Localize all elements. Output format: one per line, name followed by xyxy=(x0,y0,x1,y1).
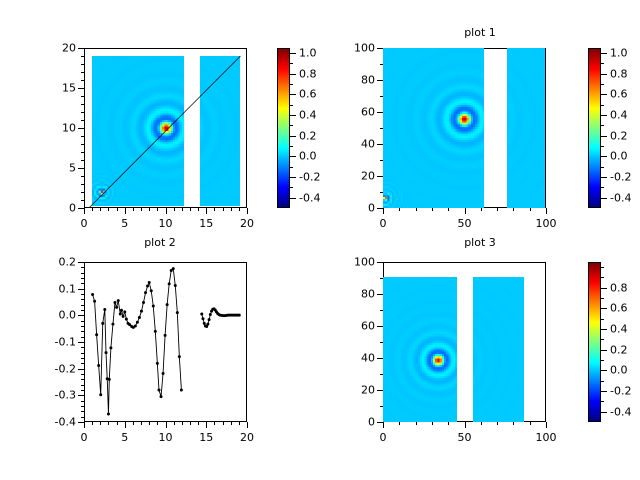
panel-top-left-xtick xyxy=(166,208,167,214)
panel-top-right-xtick-label: 0 xyxy=(363,217,403,230)
panel-top-left-cbtick xyxy=(290,74,296,75)
panel-top-left-cbtick xyxy=(290,156,296,157)
panel-top-left-xtick-minor xyxy=(223,208,224,211)
panel-top-left-xtick-minor xyxy=(190,208,191,211)
panel-top-left-cbtick-label: 0.0 xyxy=(299,150,317,163)
panel-top-right-ytick-minor xyxy=(380,160,383,161)
panel-bottom-right-cbtick-label: 0.0 xyxy=(610,364,628,377)
panel-bottom-right-ytick-label: 80 xyxy=(339,288,375,301)
panel-top-left-ytick-minor xyxy=(81,200,84,201)
panel-bottom-left-ytick-minor xyxy=(81,401,84,402)
panel-bottom-left-ytick-minor xyxy=(81,278,84,279)
panel-top-left-xtick-label: 0 xyxy=(64,217,104,230)
panel-bottom-left-ytick-minor xyxy=(81,347,84,348)
panel-bottom-left-xtick-label: 20 xyxy=(227,431,267,444)
panel-bottom-left-ytick-minor xyxy=(81,331,84,332)
panel-top-left-cbtick-minor xyxy=(290,167,293,168)
panel-bottom-right-xtick-label: 0 xyxy=(363,431,403,444)
panel-top-left-ytick-label: 15 xyxy=(40,82,76,95)
panel-top-left-ytick xyxy=(78,48,84,49)
panel-top-left-colorbar-gradient xyxy=(278,49,289,207)
panel-top-right-ytick xyxy=(377,144,383,145)
panel-bottom-left-xtick xyxy=(166,422,167,428)
panel-top-right-xtick-minor xyxy=(530,208,531,211)
panel-bottom-left-ytick xyxy=(78,289,84,290)
panel-bottom-left-xtick-minor xyxy=(214,422,215,425)
panel-bottom-left-xtick xyxy=(206,422,207,428)
panel-top-right-patch-right xyxy=(507,48,545,208)
panel-top-right-ytick-label: 0 xyxy=(339,202,375,215)
panel-bottom-left-ytick-minor xyxy=(81,406,84,407)
panel-bottom-left-xtick-minor xyxy=(182,422,183,425)
panel-top-left-xtick xyxy=(247,208,248,214)
panel-top-left-xtick-minor xyxy=(174,208,175,211)
panel-top-right-ytick-label: 20 xyxy=(339,170,375,183)
panel-bottom-right-ytick-minor xyxy=(380,342,383,343)
panel-top-right-xtick-minor xyxy=(432,208,433,211)
panel-top-right-cbtick xyxy=(601,136,607,137)
panel-top-right-xtick-minor xyxy=(497,208,498,211)
panel-top-right-cbtick xyxy=(601,53,607,54)
panel-top-left-cbtick-label: 0.4 xyxy=(299,109,317,122)
panel-top-left-ytick-minor xyxy=(81,96,84,97)
panel-bottom-right-cbtick-minor xyxy=(601,339,604,340)
panel-bottom-right-ytick-label: 40 xyxy=(339,352,375,365)
panel-bottom-right-ytick-label: 20 xyxy=(339,384,375,397)
panel-bottom-right-patch-right xyxy=(473,277,524,422)
panel-bottom-left-ytick-minor xyxy=(81,273,84,274)
panel-bottom-right-ytick xyxy=(377,358,383,359)
panel-top-right-ytick-minor xyxy=(380,96,383,97)
panel-top-left-ytick-minor xyxy=(81,136,84,137)
panel-top-left-ytick-minor xyxy=(81,160,84,161)
panel-bottom-left-ytick-minor xyxy=(81,353,84,354)
panel-bottom-right-ytick-label: 60 xyxy=(339,320,375,333)
panel-bottom-left-xtick-minor xyxy=(157,422,158,425)
panel-bottom-left-xtick-minor xyxy=(198,422,199,425)
panel-top-left-cbtick xyxy=(290,177,296,178)
figure-canvas: 0510152005101520-0.4-0.20.00.20.40.60.81… xyxy=(0,0,640,480)
panel-bottom-right-cbtick xyxy=(601,412,607,413)
panel-bottom-left-ytick-minor xyxy=(81,337,84,338)
panel-top-left-ytick-minor xyxy=(81,112,84,113)
panel-bottom-left-ytick-minor xyxy=(81,310,84,311)
panel-top-left-ytick-minor xyxy=(81,152,84,153)
panel-top-right-cbtick xyxy=(601,74,607,75)
panel-bottom-left-ytick xyxy=(78,395,84,396)
panel-top-right-cbtick-minor xyxy=(601,146,604,147)
panel-bottom-right-ytick xyxy=(377,262,383,263)
panel-top-left-ytick-label: 20 xyxy=(40,42,76,55)
panel-top-left-ytick xyxy=(78,88,84,89)
panel-bottom-left-ytick xyxy=(78,342,84,343)
panel-top-left-xtick-minor xyxy=(231,208,232,211)
panel-bottom-left-ytick-minor xyxy=(81,363,84,364)
panel-top-right-ytick-minor xyxy=(380,64,383,65)
panel-top-left-cbtick-minor xyxy=(290,105,293,106)
panel-bottom-left-ytick-minor xyxy=(81,374,84,375)
panel-top-right-xtick xyxy=(383,208,384,214)
panel-bottom-right-cbtick-label: -0.4 xyxy=(610,405,631,418)
panel-top-left-cbtick-minor xyxy=(290,187,293,188)
panel-bottom-right-cbtick-minor xyxy=(601,267,604,268)
panel-top-left-cbtick xyxy=(290,136,296,137)
panel-top-right-cbtick-label: -0.2 xyxy=(610,171,631,184)
panel-top-left-cbtick-label: -0.4 xyxy=(299,191,320,204)
panel-top-left: 0510152005101520-0.4-0.20.00.20.40.60.81… xyxy=(0,0,320,240)
panel-bottom-right-cbtick xyxy=(601,288,607,289)
panel-top-right-ytick-minor xyxy=(380,192,383,193)
panel-bottom-left-ytick-minor xyxy=(81,326,84,327)
panel-top-right-cbtick-minor xyxy=(601,167,604,168)
panel-bottom-left-xtick-minor xyxy=(231,422,232,425)
panel-top-left-xtick xyxy=(125,208,126,214)
panel-bottom-left-xtick-label: 5 xyxy=(105,431,145,444)
panel-top-left-ytick-minor xyxy=(81,64,84,65)
panel-bottom-right-cbtick-label: 0.4 xyxy=(610,323,628,336)
panel-bottom-left-ytick-minor xyxy=(81,283,84,284)
panel-bottom-right-xtick-minor xyxy=(416,422,417,425)
panel-bottom-left-xtick-minor xyxy=(190,422,191,425)
panel-top-right-xtick-minor xyxy=(481,208,482,211)
panel-top-left-ytick-minor xyxy=(81,80,84,81)
panel-top-left-cbtick xyxy=(290,53,296,54)
panel-top-left-cbtick-label: -0.2 xyxy=(299,171,320,184)
panel-bottom-right-colorbar-gradient xyxy=(589,263,600,421)
panel-bottom-left-xtick-minor xyxy=(100,422,101,425)
panel-bottom-right-cbtick xyxy=(601,370,607,371)
panel-bottom-right-cbtick-minor xyxy=(601,298,604,299)
panel-bottom-right-ytick xyxy=(377,326,383,327)
panel-top-left-xtick-label: 10 xyxy=(146,217,186,230)
panel-top-right-ytick xyxy=(377,80,383,81)
panel-top-left-xtick-minor xyxy=(92,208,93,211)
panel-top-right-xtick-minor xyxy=(416,208,417,211)
panel-top-right: plot 1 020406080100050100-0.4-0.20.00.20… xyxy=(320,0,640,240)
panel-top-left-patch-right xyxy=(200,56,240,206)
panel-top-left-cbtick-label: 0.6 xyxy=(299,88,317,101)
panel-top-right-ytick-label: 40 xyxy=(339,138,375,151)
panel-top-right-cbtick-label: 0.4 xyxy=(610,109,628,122)
panel-bottom-left-ytick xyxy=(78,315,84,316)
panel-bottom-right-cbtick-minor xyxy=(601,277,604,278)
panel-top-left-cbtick-minor xyxy=(290,84,293,85)
panel-top-left-xtick-label: 15 xyxy=(186,217,226,230)
panel-top-left-xtick-minor xyxy=(117,208,118,211)
panel-bottom-right-xtick-minor xyxy=(432,422,433,425)
panel-bottom-left-xtick-label: 15 xyxy=(186,431,226,444)
panel-top-left-cbtick-minor xyxy=(290,63,293,64)
panel-top-left-xtick-minor xyxy=(214,208,215,211)
panel-bottom-right: plot 3 020406080100050100-0.4-0.20.00.20… xyxy=(320,240,640,480)
panel-bottom-right-cbtick-minor xyxy=(601,360,604,361)
panel-top-right-xtick-minor xyxy=(399,208,400,211)
panel-bottom-left-ytick-minor xyxy=(81,417,84,418)
panel-bottom-right-cbtick-minor xyxy=(601,401,604,402)
panel-bottom-right-xtick-minor xyxy=(513,422,514,425)
panel-bottom-left-ytick-minor xyxy=(81,411,84,412)
panel-bottom-left-xtick xyxy=(125,422,126,428)
panel-top-left-xtick-minor xyxy=(198,208,199,211)
panel-top-right-cbtick-label: 0.2 xyxy=(610,129,628,142)
panel-top-left-ytick-minor xyxy=(81,56,84,57)
panel-bottom-left-ytick-minor xyxy=(81,294,84,295)
panel-bottom-left-ytick xyxy=(78,262,84,263)
panel-bottom-left-xtick-minor xyxy=(149,422,150,425)
panel-bottom-right-xtick-minor xyxy=(399,422,400,425)
panel-bottom-right-cbtick xyxy=(601,329,607,330)
panel-bottom-left-xtick-minor xyxy=(133,422,134,425)
panel-top-right-cbtick xyxy=(601,115,607,116)
panel-top-right-cbtick-label: 0.0 xyxy=(610,150,628,163)
panel-bottom-right-xtick-minor xyxy=(481,422,482,425)
panel-bottom-left-xtick-minor xyxy=(92,422,93,425)
panel-bottom-left-xtick xyxy=(84,422,85,428)
panel-top-left-ytick xyxy=(78,128,84,129)
panel-top-right-ytick-label: 60 xyxy=(339,106,375,119)
panel-top-right-cbtick-minor xyxy=(601,125,604,126)
panel-bottom-right-cbtick-label: 0.6 xyxy=(610,302,628,315)
panel-bottom-left-xtick-minor xyxy=(141,422,142,425)
panel-top-right-cbtick xyxy=(601,156,607,157)
panel-top-left-cbtick xyxy=(290,115,296,116)
panel-bottom-right-ytick-label: 100 xyxy=(339,256,375,269)
panel-top-right-xtick xyxy=(546,208,547,214)
panel-top-left-xtick xyxy=(84,208,85,214)
panel-bottom-left-xtick-minor xyxy=(117,422,118,425)
panel-top-right-xtick-minor xyxy=(448,208,449,211)
panel-bottom-left-axes-frame xyxy=(84,262,247,422)
panel-top-right-cbtick-minor xyxy=(601,105,604,106)
panel-top-right-ytick xyxy=(377,48,383,49)
panel-top-left-cbtick-minor xyxy=(290,146,293,147)
panel-top-right-cbtick xyxy=(601,198,607,199)
panel-top-right-cbtick-label: 0.8 xyxy=(610,67,628,80)
panel-top-left-xtick-minor xyxy=(141,208,142,211)
panel-bottom-left-xtick-minor xyxy=(174,422,175,425)
panel-top-right-ytick xyxy=(377,112,383,113)
panel-top-left-xtick-minor xyxy=(133,208,134,211)
panel-bottom-right-colorbar[interactable] xyxy=(588,262,601,422)
panel-top-left-ytick-label: 5 xyxy=(40,162,76,175)
panel-bottom-left-ytick-minor xyxy=(81,358,84,359)
panel-bottom-right-cbtick-label: 0.2 xyxy=(610,343,628,356)
panel-bottom-left-ytick xyxy=(78,369,84,370)
panel-top-right-title: plot 1 xyxy=(320,26,640,39)
panel-top-right-cbtick xyxy=(601,177,607,178)
panel-bottom-right-cbtick-minor xyxy=(601,319,604,320)
panel-bottom-left-ytick-minor xyxy=(81,390,84,391)
panel-top-left-ytick-minor xyxy=(81,72,84,73)
panel-top-left-cbtick xyxy=(290,198,296,199)
panel-top-right-cbtick-minor xyxy=(601,63,604,64)
panel-top-left-ytick-minor xyxy=(81,184,84,185)
panel-top-right-patch-left xyxy=(383,48,484,208)
panel-top-left-ytick-label: 0 xyxy=(40,202,76,215)
panel-bottom-right-xtick xyxy=(383,422,384,428)
panel-bottom-left-ytick-label: 0.1 xyxy=(40,282,76,295)
panel-top-right-cbtick-minor xyxy=(601,187,604,188)
panel-top-left-cbtick xyxy=(290,94,296,95)
panel-top-left-xtick-label: 5 xyxy=(105,217,145,230)
panel-bottom-right-cbtick xyxy=(601,391,607,392)
panel-bottom-left-ytick-minor xyxy=(81,305,84,306)
panel-top-right-cbtick-label: 1.0 xyxy=(610,47,628,60)
panel-top-left-cbtick-label: 0.2 xyxy=(299,129,317,142)
panel-top-left-xtick-minor xyxy=(157,208,158,211)
panel-bottom-left-ytick-label: -0.4 xyxy=(40,416,76,429)
panel-bottom-right-cbtick xyxy=(601,308,607,309)
panel-bottom-left-ytick-label: -0.3 xyxy=(40,389,76,402)
panel-bottom-left-ytick-label: -0.2 xyxy=(40,362,76,375)
panel-bottom-right-ytick-minor xyxy=(380,310,383,311)
panel-bottom-right-ytick xyxy=(377,390,383,391)
panel-bottom-right-ytick-minor xyxy=(380,406,383,407)
panel-top-left-ytick-minor xyxy=(81,192,84,193)
panel-top-right-xtick-label: 50 xyxy=(445,217,485,230)
panel-bottom-right-patch-left xyxy=(383,277,457,422)
panel-top-left-xtick-minor xyxy=(108,208,109,211)
panel-top-left-cbtick-minor xyxy=(290,125,293,126)
panel-top-left-ytick-minor xyxy=(81,176,84,177)
panel-bottom-right-ytick-minor xyxy=(380,374,383,375)
panel-bottom-left-ytick-minor xyxy=(81,385,84,386)
panel-bottom-left-ytick-minor xyxy=(81,379,84,380)
panel-top-right-cbtick-label: 0.6 xyxy=(610,88,628,101)
panel-top-left-xtick-minor xyxy=(100,208,101,211)
panel-bottom-right-ytick-label: 0 xyxy=(339,416,375,429)
panel-top-right-ytick-label: 100 xyxy=(339,42,375,55)
panel-top-left-ytick-label: 10 xyxy=(40,122,76,135)
panel-top-left-patch-left xyxy=(92,56,184,206)
panel-top-left-xtick-minor xyxy=(182,208,183,211)
panel-bottom-right-cbtick xyxy=(601,350,607,351)
panel-top-left-ytick-minor xyxy=(81,144,84,145)
panel-top-right-cbtick-label: -0.4 xyxy=(610,191,631,204)
panel-bottom-right-cbtick-label: -0.2 xyxy=(610,385,631,398)
panel-bottom-right-xtick xyxy=(465,422,466,428)
panel-bottom-right-title: plot 3 xyxy=(320,236,640,249)
panel-top-right-colorbar-gradient xyxy=(589,49,600,207)
panel-top-right-xtick-minor xyxy=(513,208,514,211)
panel-bottom-left-ytick-minor xyxy=(81,267,84,268)
panel-bottom-right-xtick-minor xyxy=(497,422,498,425)
panel-bottom-right-xtick-label: 50 xyxy=(445,431,485,444)
panel-top-left-xtick-minor xyxy=(149,208,150,211)
panel-bottom-left-ytick-minor xyxy=(81,321,84,322)
panel-top-right-ytick-label: 80 xyxy=(339,74,375,87)
panel-top-right-ytick-minor xyxy=(380,128,383,129)
panel-bottom-left-xtick xyxy=(247,422,248,428)
panel-top-right-xtick xyxy=(465,208,466,214)
panel-bottom-right-xtick-label: 100 xyxy=(526,431,566,444)
panel-top-left-xtick-label: 20 xyxy=(227,217,267,230)
panel-bottom-left-ytick-label: 0.0 xyxy=(40,309,76,322)
panel-bottom-left-title: plot 2 xyxy=(0,236,320,249)
panel-bottom-left: plot 2 -0.4-0.3-0.2-0.10.00.10.205101520 xyxy=(0,240,320,480)
panel-bottom-left-xtick-minor xyxy=(239,422,240,425)
panel-top-left-ytick-minor xyxy=(81,120,84,121)
panel-top-left-xtick xyxy=(206,208,207,214)
panel-bottom-left-ytick-minor xyxy=(81,299,84,300)
panel-bottom-left-xtick-minor xyxy=(108,422,109,425)
panel-bottom-right-cbtick-minor xyxy=(601,381,604,382)
panel-top-right-cbtick-minor xyxy=(601,84,604,85)
panel-top-right-cbtick xyxy=(601,94,607,95)
panel-top-left-colorbar[interactable] xyxy=(277,48,290,208)
panel-top-left-cbtick-label: 0.8 xyxy=(299,67,317,80)
panel-top-right-colorbar[interactable] xyxy=(588,48,601,208)
panel-bottom-right-xtick xyxy=(546,422,547,428)
panel-top-right-ytick xyxy=(377,176,383,177)
panel-bottom-right-xtick-minor xyxy=(448,422,449,425)
panel-top-left-ytick-minor xyxy=(81,104,84,105)
panel-bottom-left-xtick-minor xyxy=(223,422,224,425)
panel-top-left-ytick xyxy=(78,168,84,169)
panel-bottom-left-ytick-label: -0.1 xyxy=(40,336,76,349)
panel-top-left-xtick-minor xyxy=(239,208,240,211)
panel-bottom-right-ytick xyxy=(377,294,383,295)
panel-bottom-right-ytick-minor xyxy=(380,278,383,279)
panel-bottom-left-xtick-label: 0 xyxy=(64,431,104,444)
panel-top-right-xtick-label: 100 xyxy=(526,217,566,230)
panel-bottom-right-xtick-minor xyxy=(530,422,531,425)
panel-bottom-left-ytick-label: 0.2 xyxy=(40,256,76,269)
panel-top-left-cbtick-label: 1.0 xyxy=(299,47,317,60)
panel-bottom-right-cbtick-label: 0.8 xyxy=(610,281,628,294)
panel-bottom-left-xtick-label: 10 xyxy=(146,431,186,444)
